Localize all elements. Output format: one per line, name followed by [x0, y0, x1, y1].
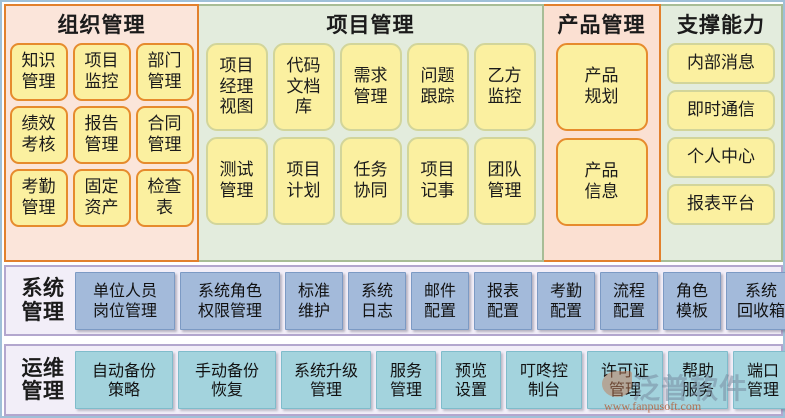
tile-prod-0[interactable]: 产品 规划: [556, 43, 648, 131]
domain-title-org: 组织管理: [58, 6, 146, 43]
system-button-6[interactable]: 考勤 配置: [537, 272, 595, 330]
ops-management-items: 自动备份 策略手动备份 恢复系统升级 管理服务 管理预览 设置叮咚控 制台许可证…: [75, 351, 785, 409]
system-button-2[interactable]: 标准 维护: [285, 272, 343, 330]
tile-sup-0[interactable]: 内部消息: [667, 43, 775, 84]
tile-proj-4[interactable]: 乙方 监控: [474, 43, 536, 131]
system-button-4[interactable]: 邮件 配置: [411, 272, 469, 330]
domain-title-prod: 产品管理: [558, 6, 646, 43]
tile-org-2[interactable]: 部门 管理: [136, 43, 194, 101]
system-management-row: 系统 管理 单位人员 岗位管理系统角色 权限管理标准 维护系统 日志邮件 配置报…: [4, 265, 783, 336]
tile-org-3[interactable]: 绩效 考核: [10, 106, 68, 164]
system-button-5[interactable]: 报表 配置: [474, 272, 532, 330]
domain-column-proj[interactable]: 项目管理 项目 经理 视图 代码 文档 库 需求 管理 问题 跟踪 乙方 监控 …: [199, 4, 544, 262]
tile-org-6[interactable]: 考勤 管理: [10, 169, 68, 227]
domain-column-org[interactable]: 组织管理 知识 管理 项目 监控 部门 管理 绩效 考核 报告 管理 合同 管理…: [4, 4, 199, 262]
tile-org-8[interactable]: 检查 表: [136, 169, 194, 227]
tile-proj-8[interactable]: 项目 记事: [407, 137, 469, 225]
tile-proj-5[interactable]: 测试 管理: [206, 137, 268, 225]
architecture-diagram: 组织管理 知识 管理 项目 监控 部门 管理 绩效 考核 报告 管理 合同 管理…: [0, 0, 785, 418]
ops-button-8[interactable]: 端口 管理: [733, 351, 785, 409]
ops-button-2[interactable]: 系统升级 管理: [281, 351, 371, 409]
tile-grid-sup: 内部消息 即时通信 个人中心 报表平台: [664, 43, 778, 225]
system-button-7[interactable]: 流程 配置: [600, 272, 658, 330]
domain-title-proj: 项目管理: [327, 6, 415, 43]
tile-proj-9[interactable]: 团队 管理: [474, 137, 536, 225]
domain-column-sup[interactable]: 支撑能力 内部消息 即时通信 个人中心 报表平台: [661, 4, 783, 262]
ops-button-0[interactable]: 自动备份 策略: [75, 351, 173, 409]
ops-button-6[interactable]: 许可证 管理: [587, 351, 663, 409]
tile-grid-prod: 产品 规划 产品 信息: [548, 43, 656, 226]
domain-title-sup: 支撑能力: [677, 6, 765, 43]
tile-org-5[interactable]: 合同 管理: [136, 106, 194, 164]
ops-button-5[interactable]: 叮咚控 制台: [506, 351, 582, 409]
ops-button-7[interactable]: 帮助 服务: [668, 351, 728, 409]
ops-button-4[interactable]: 预览 设置: [441, 351, 501, 409]
tile-grid-proj: 项目 经理 视图 代码 文档 库 需求 管理 问题 跟踪 乙方 监控 测试 管理…: [203, 43, 539, 225]
tile-org-4[interactable]: 报告 管理: [73, 106, 131, 164]
tile-sup-2[interactable]: 个人中心: [667, 137, 775, 178]
tile-sup-3[interactable]: 报表平台: [667, 184, 775, 225]
tile-org-7[interactable]: 固定 资产: [73, 169, 131, 227]
system-button-0[interactable]: 单位人员 岗位管理: [75, 272, 175, 330]
tile-proj-3[interactable]: 问题 跟踪: [407, 43, 469, 131]
system-button-9[interactable]: 系统 回收箱: [726, 272, 785, 330]
tile-grid-org: 知识 管理 项目 监控 部门 管理 绩效 考核 报告 管理 合同 管理 考勤 管…: [9, 43, 195, 227]
tile-org-0[interactable]: 知识 管理: [10, 43, 68, 101]
tile-org-1[interactable]: 项目 监控: [73, 43, 131, 101]
tile-proj-1[interactable]: 代码 文档 库: [273, 43, 335, 131]
domain-band: 组织管理 知识 管理 项目 监控 部门 管理 绩效 考核 报告 管理 合同 管理…: [4, 4, 783, 262]
system-management-label: 系统 管理: [11, 277, 75, 323]
system-button-3[interactable]: 系统 日志: [348, 272, 406, 330]
ops-management-label: 运维 管理: [11, 357, 75, 403]
ops-management-row: 运维 管理 自动备份 策略手动备份 恢复系统升级 管理服务 管理预览 设置叮咚控…: [4, 344, 783, 416]
tile-prod-1[interactable]: 产品 信息: [556, 138, 648, 226]
tile-proj-0[interactable]: 项目 经理 视图: [206, 43, 268, 131]
domain-column-prod[interactable]: 产品管理 产品 规划 产品 信息: [544, 4, 661, 262]
tile-proj-7[interactable]: 任务 协同: [340, 137, 402, 225]
tile-sup-1[interactable]: 即时通信: [667, 90, 775, 131]
system-management-items: 单位人员 岗位管理系统角色 权限管理标准 维护系统 日志邮件 配置报表 配置考勤…: [75, 272, 785, 330]
ops-button-1[interactable]: 手动备份 恢复: [178, 351, 276, 409]
ops-button-3[interactable]: 服务 管理: [376, 351, 436, 409]
tile-proj-6[interactable]: 项目 计划: [273, 137, 335, 225]
tile-proj-2[interactable]: 需求 管理: [340, 43, 402, 131]
system-button-8[interactable]: 角色 模板: [663, 272, 721, 330]
system-button-1[interactable]: 系统角色 权限管理: [180, 272, 280, 330]
